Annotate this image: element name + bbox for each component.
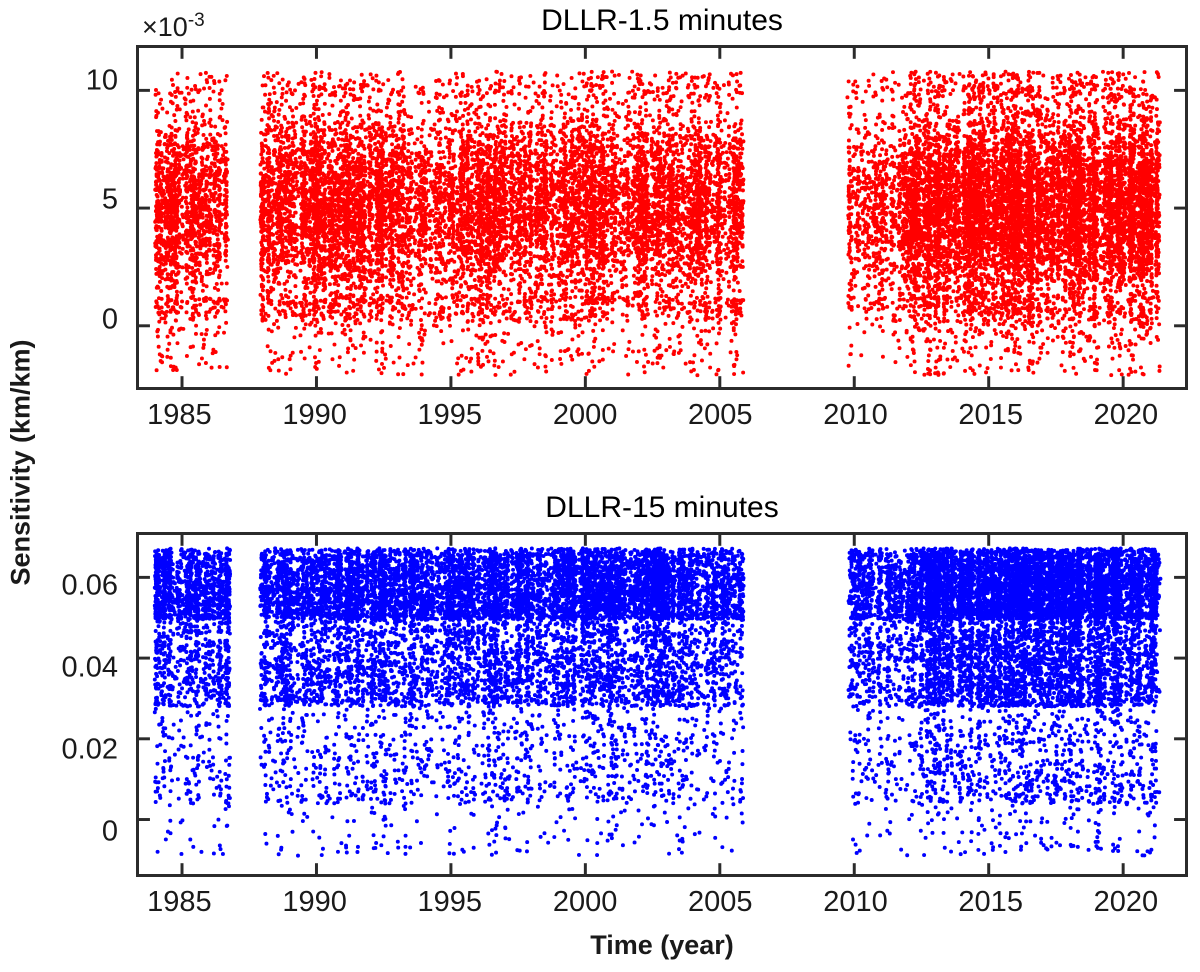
- xtick-label-bottom-1985: 1985: [147, 886, 212, 919]
- x-axis-label: Time (year): [590, 930, 734, 961]
- xtick-label-bottom-2020: 2020: [1094, 886, 1159, 919]
- ytick-label-top-0: 0: [58, 304, 118, 337]
- xtick-label-bottom-2000: 2000: [553, 886, 618, 919]
- xtick-label-bottom-2005: 2005: [688, 886, 753, 919]
- xtick-label-top-1990: 1990: [282, 399, 347, 432]
- scatter-canvas-top: [139, 48, 1185, 387]
- exponent-base: ×10: [142, 12, 188, 42]
- xtick-label-bottom-2015: 2015: [958, 886, 1023, 919]
- xtick-label-top-2020: 2020: [1094, 399, 1159, 432]
- panel-title-top: DLLR-1.5 minutes: [136, 4, 1188, 38]
- y-axis-exponent-top: ×10-3: [142, 10, 205, 43]
- figure-root: Sensitivity (km/km) DLLR-1.5 minutes ×10…: [0, 0, 1200, 972]
- ytick-label-bottom-0: 0: [0, 816, 118, 849]
- ytick-label-top-1: 5: [58, 184, 118, 217]
- xtick-label-bottom-1995: 1995: [418, 886, 483, 919]
- scatter-canvas-bottom: [139, 535, 1185, 874]
- xtick-label-top-2010: 2010: [823, 399, 888, 432]
- xtick-label-top-2005: 2005: [688, 399, 753, 432]
- xtick-label-top-1985: 1985: [147, 399, 212, 432]
- xtick-label-bottom-1990: 1990: [282, 886, 347, 919]
- plot-area-bottom: [136, 532, 1188, 877]
- xtick-label-bottom-2010: 2010: [823, 886, 888, 919]
- exponent-power: -3: [188, 10, 205, 31]
- ytick-label-bottom-1: 0.02: [0, 734, 118, 767]
- ytick-label-top-2: 10: [58, 64, 118, 97]
- panel-title-bottom: DLLR-15 minutes: [136, 491, 1188, 525]
- xtick-label-top-2015: 2015: [958, 399, 1023, 432]
- ytick-label-bottom-2: 0.04: [0, 652, 118, 685]
- xtick-label-top-1995: 1995: [418, 399, 483, 432]
- plot-area-top: [136, 45, 1188, 390]
- ytick-label-bottom-3: 0.06: [0, 570, 118, 603]
- y-axis-label: Sensitivity (km/km): [6, 323, 37, 603]
- xtick-label-top-2000: 2000: [553, 399, 618, 432]
